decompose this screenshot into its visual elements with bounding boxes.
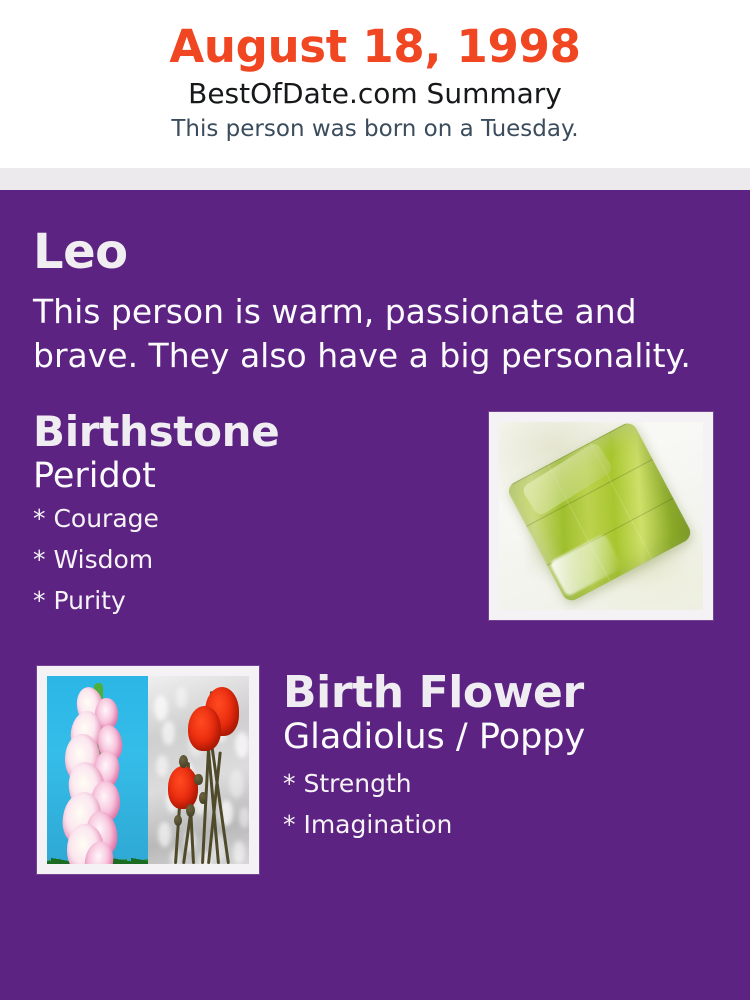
zodiac-section: Leo This person is warm, passionate and … bbox=[0, 190, 750, 378]
poppy-bloom bbox=[168, 766, 198, 809]
peridot-gemstone-photo bbox=[489, 412, 713, 620]
birthflower-heading: Birth Flower bbox=[283, 670, 750, 716]
poppy-bloom bbox=[188, 706, 220, 751]
birthflower-text-block: Birth Flower Gladiolus / Poppy * Strengt… bbox=[283, 664, 750, 837]
list-item: * Imagination bbox=[283, 812, 750, 837]
bokeh-highlight bbox=[235, 732, 249, 758]
header-divider bbox=[0, 168, 750, 190]
bokeh-highlight bbox=[233, 841, 245, 864]
page-header: August 18, 1998 BestOfDate.com Summary T… bbox=[0, 0, 750, 168]
birthstone-section: Birthstone Peridot * Courage * Wisdom * … bbox=[0, 410, 750, 640]
poppy-bud bbox=[174, 815, 182, 826]
bokeh-highlight bbox=[162, 721, 175, 745]
zodiac-description: This person is warm, passionate and brav… bbox=[33, 290, 693, 378]
born-day-label: This person was born on a Tuesday. bbox=[0, 115, 750, 145]
bokeh-highlight bbox=[158, 822, 171, 846]
bokeh-highlight bbox=[154, 695, 168, 721]
summary-page: August 18, 1998 BestOfDate.com Summary T… bbox=[0, 0, 750, 1000]
bokeh-highlight bbox=[156, 755, 168, 778]
poppy-bud bbox=[199, 792, 207, 803]
list-item: * Strength bbox=[283, 771, 750, 796]
birthflower-section: Birth Flower Gladiolus / Poppy * Strengt… bbox=[0, 664, 750, 879]
page-title: August 18, 1998 bbox=[0, 22, 750, 72]
birthflower-traits-list: * Strength * Imagination bbox=[283, 771, 750, 837]
birthflower-name: Gladiolus / Poppy bbox=[283, 718, 750, 757]
zodiac-sign-name: Leo bbox=[33, 228, 716, 276]
site-summary-label: BestOfDate.com Summary bbox=[0, 76, 750, 112]
poppy-bud bbox=[194, 774, 202, 785]
bokeh-highlight bbox=[239, 807, 249, 828]
bokeh-highlight bbox=[229, 770, 244, 798]
gladiolus-and-poppy-photo bbox=[37, 666, 259, 874]
bokeh-highlight bbox=[176, 687, 187, 708]
details-panel: Leo This person is warm, passionate and … bbox=[0, 190, 750, 1000]
